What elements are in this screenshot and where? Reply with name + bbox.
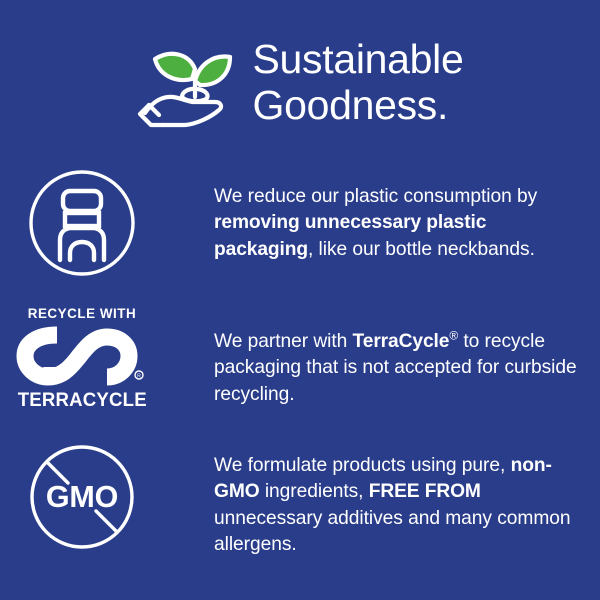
plastic-bottle-in-circle-icon bbox=[27, 168, 137, 283]
text-segment-bold: FREE FROM bbox=[369, 481, 481, 502]
feature-icon-cell: GMO bbox=[0, 443, 164, 551]
feature-text-plastic: We reduce our plastic consumption by rem… bbox=[164, 168, 600, 263]
text-segment: We formulate products using pure, bbox=[214, 455, 511, 476]
text-segment: We partner with bbox=[214, 331, 353, 352]
infinity-recycle-loop-icon: R bbox=[15, 325, 149, 387]
feature-icon-cell: RECYCLE WITH R TERRACYCLE bbox=[0, 305, 164, 411]
feature-icon-cell bbox=[0, 168, 164, 283]
text-segment: , like our bottle neckbands. bbox=[308, 239, 535, 260]
no-gmo-icon: GMO bbox=[28, 443, 136, 551]
terracycle-logo-icon: RECYCLE WITH R TERRACYCLE bbox=[14, 306, 150, 411]
svg-text:R: R bbox=[137, 374, 141, 380]
sustainable-goodness-infographic: Sustainable Goodness. We bbox=[0, 0, 600, 600]
terracycle-bottom-label: TERRACYCLE bbox=[17, 390, 146, 411]
feature-text-gmo: We formulate products using pure, non-GM… bbox=[164, 443, 600, 559]
feature-row-gmo: GMO We formulate products using pure, no… bbox=[0, 443, 600, 559]
feature-row-plastic: We reduce our plastic consumption by rem… bbox=[0, 168, 600, 283]
terracycle-top-label: RECYCLE WITH bbox=[28, 306, 137, 321]
hand-holding-sprout-icon bbox=[137, 35, 241, 133]
feature-text-terracycle: We partner with TerraCycle® to recycle p… bbox=[164, 305, 600, 408]
text-segment: We reduce our plastic consumption by bbox=[214, 186, 537, 207]
text-segment: unnecessary additives and many common al… bbox=[214, 508, 571, 555]
page-title-line-2: Goodness. bbox=[253, 82, 464, 128]
text-segment-bold: TerraCycle bbox=[353, 331, 450, 352]
feature-row-terracycle: RECYCLE WITH R TERRACYCLE bbox=[0, 305, 600, 411]
page-title: Sustainable Goodness. bbox=[253, 36, 464, 128]
page-title-line-1: Sustainable bbox=[253, 36, 464, 82]
registered-mark: ® bbox=[449, 329, 458, 343]
header: Sustainable Goodness. bbox=[0, 26, 600, 138]
text-segment: ingredients, bbox=[260, 481, 369, 502]
